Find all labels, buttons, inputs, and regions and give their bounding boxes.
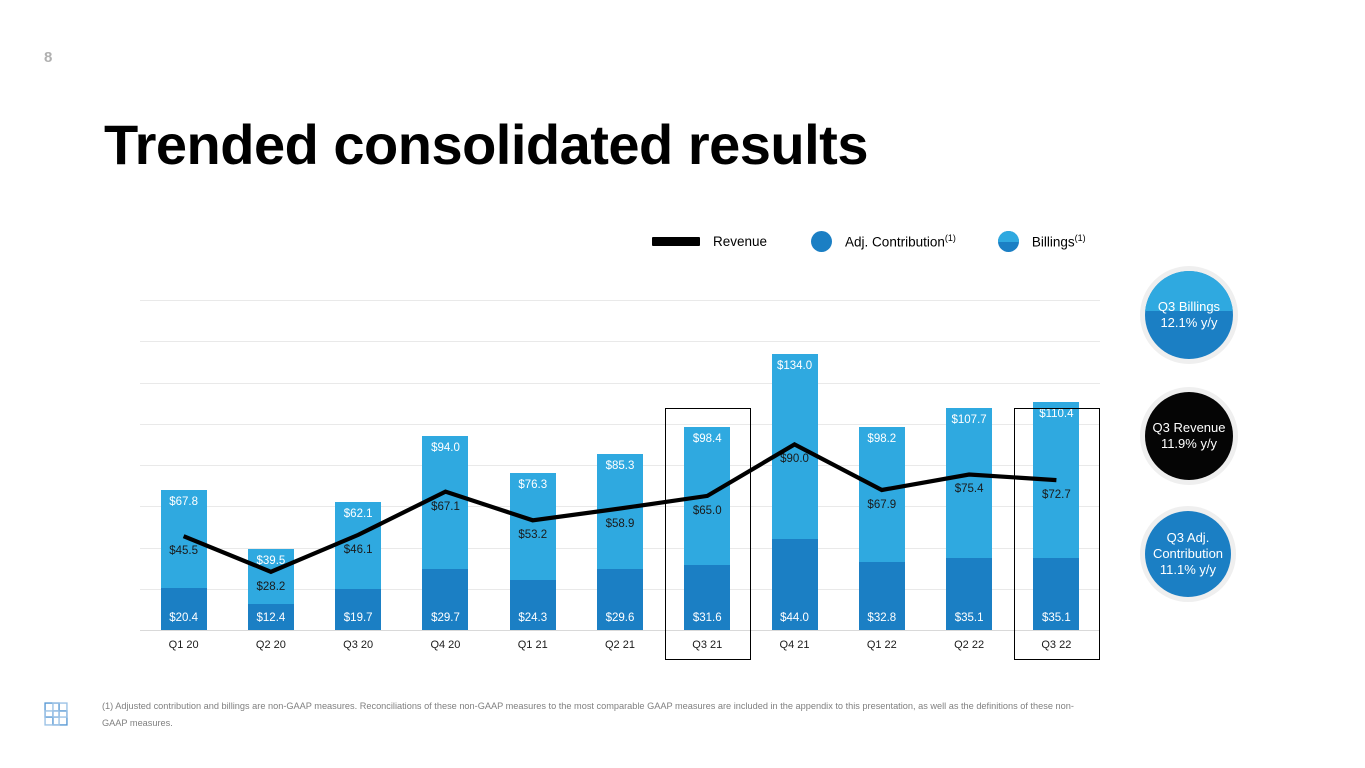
bar-segment-adj-contribution[interactable]: $12.4 <box>248 604 294 630</box>
x-axis-label: Q1 22 <box>838 639 925 651</box>
page-title: Trended consolidated results <box>104 116 868 175</box>
bar-group[interactable]: $94.0$29.7 <box>422 436 468 630</box>
bar-segment-adj-contribution[interactable]: $24.3 <box>510 580 556 630</box>
legend-label-adj-contribution: Adj. Contribution(1) <box>845 233 956 250</box>
x-axis-label: Q3 22 <box>1013 639 1100 651</box>
legend-sup-adj-contribution: (1) <box>945 233 956 243</box>
bar-group[interactable]: $134.0$44.0 <box>772 354 818 630</box>
bar-label-adj-contribution: $44.0 <box>772 612 818 624</box>
legend-item-revenue: Revenue <box>652 234 767 249</box>
bar-label-billings: $94.0 <box>422 442 468 454</box>
kpi-billings-line1: Q3 Billings <box>1158 299 1220 314</box>
bar-label-revenue: $46.1 <box>328 544 388 556</box>
x-axis-label: Q2 20 <box>227 639 314 651</box>
kpi-adj-contribution-line2: Contribution <box>1153 546 1223 561</box>
legend-item-adj-contribution: Adj. Contribution(1) <box>811 231 956 252</box>
chart-legend: Revenue Adj. Contribution(1) Billings(1) <box>652 231 1086 252</box>
bar-segment-adj-contribution[interactable]: $19.7 <box>335 589 381 630</box>
bar-segment-adj-contribution[interactable]: $29.6 <box>597 569 643 630</box>
bar-group[interactable]: $62.1$19.7 <box>335 502 381 630</box>
adj-contribution-dot-icon <box>811 231 832 252</box>
kpi-adj-contribution-line1: Q3 Adj. <box>1167 530 1210 545</box>
billings-dot-icon <box>998 231 1019 252</box>
bar-label-billings: $134.0 <box>772 360 818 372</box>
bar-label-billings: $76.3 <box>510 479 556 491</box>
kpi-revenue-line1: Q3 Revenue <box>1153 420 1226 435</box>
kpi-billings-line2: 12.1% y/y <box>1160 315 1217 330</box>
bar-segment-adj-contribution[interactable]: $29.7 <box>422 569 468 630</box>
x-axis-label: Q4 21 <box>751 639 838 651</box>
bar-segment-adj-contribution[interactable]: $35.1 <box>946 558 992 630</box>
bar-label-billings: $85.3 <box>597 460 643 472</box>
x-axis-label: Q4 20 <box>402 639 489 651</box>
legend-label-billings: Billings(1) <box>1032 233 1086 250</box>
overlapping-squares-logo-icon <box>42 700 70 728</box>
chart-gridline <box>140 341 1100 342</box>
bar-segment-billings[interactable]: $134.0 <box>772 354 818 540</box>
x-axis-label: Q3 20 <box>315 639 402 651</box>
legend-label-revenue: Revenue <box>713 234 767 249</box>
legend-sup-billings: (1) <box>1075 233 1086 243</box>
bar-segment-billings[interactable]: $39.5 <box>248 549 294 605</box>
bar-label-adj-contribution: $32.8 <box>859 612 905 624</box>
highlight-box-q3-22 <box>1014 408 1100 660</box>
bar-label-billings: $39.5 <box>248 555 294 567</box>
chart-gridline <box>140 383 1100 384</box>
legend-item-billings: Billings(1) <box>998 231 1086 252</box>
kpi-adj-contribution-text: Q3 Adj. Contribution 11.1% y/y <box>1153 530 1223 579</box>
bar-label-adj-contribution: $29.7 <box>422 612 468 624</box>
trended-results-chart: $67.8$20.4$45.5$39.5$12.4$28.2$62.1$19.7… <box>140 300 1100 660</box>
bar-group[interactable]: $98.2$32.8 <box>859 427 905 630</box>
chart-gridline <box>140 300 1100 301</box>
bar-label-revenue: $53.2 <box>503 529 563 541</box>
bar-label-revenue: $67.9 <box>852 499 912 511</box>
x-axis-label: Q1 20 <box>140 639 227 651</box>
bar-label-revenue: $75.4 <box>939 483 999 495</box>
legend-label-billings-text: Billings <box>1032 235 1075 250</box>
slide-canvas: 8 Trended consolidated results Revenue A… <box>0 0 1365 768</box>
bar-label-adj-contribution: $35.1 <box>946 612 992 624</box>
bar-label-billings: $98.2 <box>859 433 905 445</box>
chart-plot-area: $67.8$20.4$45.5$39.5$12.4$28.2$62.1$19.7… <box>140 300 1100 630</box>
bar-label-revenue: $67.1 <box>415 501 475 513</box>
bar-group[interactable]: $67.8$20.4 <box>161 490 207 630</box>
bar-segment-adj-contribution[interactable]: $20.4 <box>161 588 207 630</box>
bar-label-adj-contribution: $19.7 <box>335 612 381 624</box>
bar-segment-adj-contribution[interactable]: $44.0 <box>772 539 818 630</box>
bar-segment-billings[interactable]: $85.3 <box>597 454 643 569</box>
bar-group[interactable]: $85.3$29.6 <box>597 454 643 630</box>
bar-label-adj-contribution: $12.4 <box>248 612 294 624</box>
kpi-badge-q3-billings[interactable]: Q3 Billings 12.1% y/y <box>1145 271 1233 359</box>
highlight-box-q3-21 <box>665 408 751 660</box>
bar-segment-billings[interactable]: $67.8 <box>161 490 207 588</box>
bar-segment-billings[interactable]: $76.3 <box>510 473 556 580</box>
bar-label-adj-contribution: $24.3 <box>510 612 556 624</box>
x-axis-label: Q1 21 <box>489 639 576 651</box>
footnote-text: (1) Adjusted contribution and billings a… <box>102 698 1077 732</box>
bar-group[interactable]: $76.3$24.3 <box>510 473 556 630</box>
kpi-badge-q3-adj-contribution[interactable]: Q3 Adj. Contribution 11.1% y/y <box>1145 511 1231 597</box>
kpi-badge-q3-revenue[interactable]: Q3 Revenue 11.9% y/y <box>1145 392 1233 480</box>
legend-label-adj-contribution-text: Adj. Contribution <box>845 235 945 250</box>
chart-x-axis-labels: Q1 20Q2 20Q3 20Q4 20Q1 21Q2 21Q3 21Q4 21… <box>140 633 1100 659</box>
bar-segment-billings[interactable]: $98.2 <box>859 427 905 562</box>
bar-label-billings: $67.8 <box>161 496 207 508</box>
chart-axis-baseline <box>140 630 1100 631</box>
revenue-line-swatch-icon <box>652 237 700 246</box>
bar-group[interactable]: $107.7$35.1 <box>946 408 992 630</box>
bar-label-adj-contribution: $20.4 <box>161 612 207 624</box>
bar-label-billings: $62.1 <box>335 508 381 520</box>
page-number: 8 <box>44 49 52 66</box>
kpi-billings-text: Q3 Billings 12.1% y/y <box>1158 299 1220 332</box>
bar-label-revenue: $58.9 <box>590 518 650 530</box>
x-axis-label: Q2 22 <box>925 639 1012 651</box>
x-axis-label: Q3 21 <box>664 639 751 651</box>
bar-label-revenue: $28.2 <box>241 581 301 593</box>
kpi-revenue-line2: 11.9% y/y <box>1161 436 1217 451</box>
bar-label-adj-contribution: $29.6 <box>597 612 643 624</box>
kpi-adj-contribution-line3: 11.1% y/y <box>1160 562 1216 577</box>
bar-segment-adj-contribution[interactable]: $32.8 <box>859 562 905 630</box>
bar-label-revenue: $45.5 <box>154 545 214 557</box>
x-axis-label: Q2 21 <box>576 639 663 651</box>
kpi-revenue-text: Q3 Revenue 11.9% y/y <box>1153 420 1226 453</box>
bar-label-billings: $107.7 <box>946 414 992 426</box>
bar-label-revenue: $90.0 <box>765 453 825 465</box>
